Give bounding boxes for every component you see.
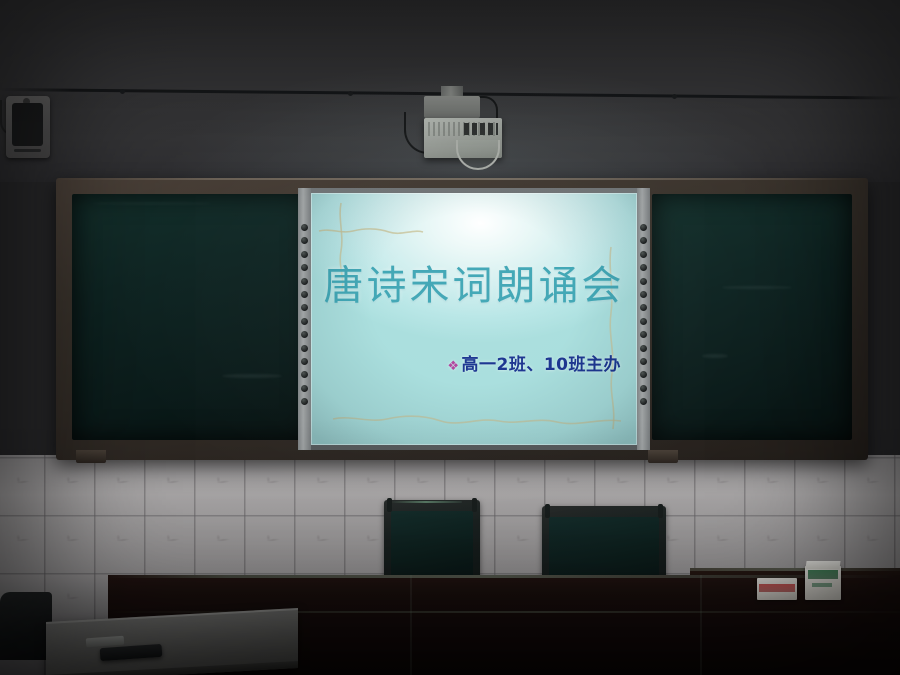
chalk-box-green-label bbox=[808, 570, 838, 579]
screen-rail-dot bbox=[301, 264, 308, 271]
wall-speaker bbox=[6, 96, 50, 158]
slide-surface: 唐诗宋词朗诵会 ❖高一2班、10班主办 bbox=[311, 193, 637, 445]
screen-rail-dot bbox=[640, 358, 647, 365]
screen-rail-dot bbox=[640, 398, 647, 405]
screen-rail-dot bbox=[640, 385, 647, 392]
screen-rail-dot bbox=[301, 371, 308, 378]
board-support-foot bbox=[76, 450, 106, 463]
speaker-slot bbox=[14, 149, 41, 152]
chalk-box-lid bbox=[805, 561, 840, 569]
slide-border bbox=[311, 193, 637, 445]
screen-rail-dot bbox=[640, 331, 647, 338]
screen-rail-dot bbox=[640, 251, 647, 258]
student-chair-left[interactable] bbox=[384, 500, 480, 578]
desk-edge-highlight bbox=[690, 568, 900, 571]
projector-ports bbox=[464, 123, 498, 135]
screen-rail-right bbox=[637, 188, 650, 450]
screen-rail-dot bbox=[301, 345, 308, 352]
board-support-foot bbox=[648, 450, 678, 463]
screen-rail-dot bbox=[640, 264, 647, 271]
cable-clip bbox=[672, 94, 677, 99]
chair-post bbox=[545, 504, 550, 518]
chalk-box-red-label bbox=[759, 584, 795, 592]
screen-rail-dot bbox=[640, 371, 647, 378]
screen-rail-dot bbox=[301, 224, 308, 231]
chalk-box-red[interactable] bbox=[757, 578, 797, 600]
cable-clip bbox=[120, 89, 125, 94]
classroom-scene: 唐诗宋词朗诵会 ❖高一2班、10班主办 bbox=[0, 0, 900, 675]
speaker-grille bbox=[12, 103, 43, 146]
screen-rail-dot bbox=[301, 237, 308, 244]
student-chair-right[interactable] bbox=[542, 506, 666, 582]
board-scuff bbox=[92, 202, 212, 205]
corner-chair[interactable] bbox=[0, 592, 52, 660]
projection-screen: 唐诗宋词朗诵会 ❖高一2班、10班主办 bbox=[298, 188, 650, 450]
right-blackboard-panel bbox=[652, 194, 852, 440]
cable-clip bbox=[348, 91, 353, 96]
screen-rail-dot bbox=[640, 224, 647, 231]
screen-rail-dot bbox=[640, 278, 647, 285]
board-scuff bbox=[722, 286, 792, 289]
projector-bracket bbox=[424, 96, 480, 118]
screen-rail-dot bbox=[640, 291, 647, 298]
board-scuff bbox=[702, 354, 728, 358]
screen-rail-dot bbox=[301, 291, 308, 298]
screen-rail-dot bbox=[640, 318, 647, 325]
screen-rail-dot bbox=[301, 385, 308, 392]
desk-seam bbox=[700, 575, 702, 675]
chair-post bbox=[387, 498, 392, 512]
desk-seam bbox=[410, 575, 412, 675]
screen-rail-dot bbox=[301, 331, 308, 338]
board-top-highlight bbox=[56, 178, 868, 180]
left-blackboard-panel bbox=[72, 194, 310, 440]
chair-top-highlight bbox=[390, 501, 462, 503]
chalk-box-green-sublabel bbox=[812, 583, 832, 587]
screen-rail-dot bbox=[301, 318, 308, 325]
screen-rail-dot bbox=[301, 304, 308, 311]
chair-post bbox=[472, 498, 477, 512]
screen-rail-dot bbox=[301, 251, 308, 258]
chair-back-pad bbox=[549, 517, 659, 580]
screen-rail-dot bbox=[301, 398, 308, 405]
screen-rail-left bbox=[298, 188, 311, 450]
screen-rail-dot bbox=[640, 345, 647, 352]
chalk-box-green[interactable] bbox=[805, 566, 841, 600]
screen-rail-dot bbox=[301, 358, 308, 365]
screen-rail-dot bbox=[640, 304, 647, 311]
chair-post bbox=[658, 504, 663, 518]
chair-back-pad bbox=[391, 511, 473, 576]
screen-rail-dot bbox=[301, 278, 308, 285]
screen-rail-dot bbox=[640, 237, 647, 244]
board-scuff bbox=[222, 374, 282, 378]
